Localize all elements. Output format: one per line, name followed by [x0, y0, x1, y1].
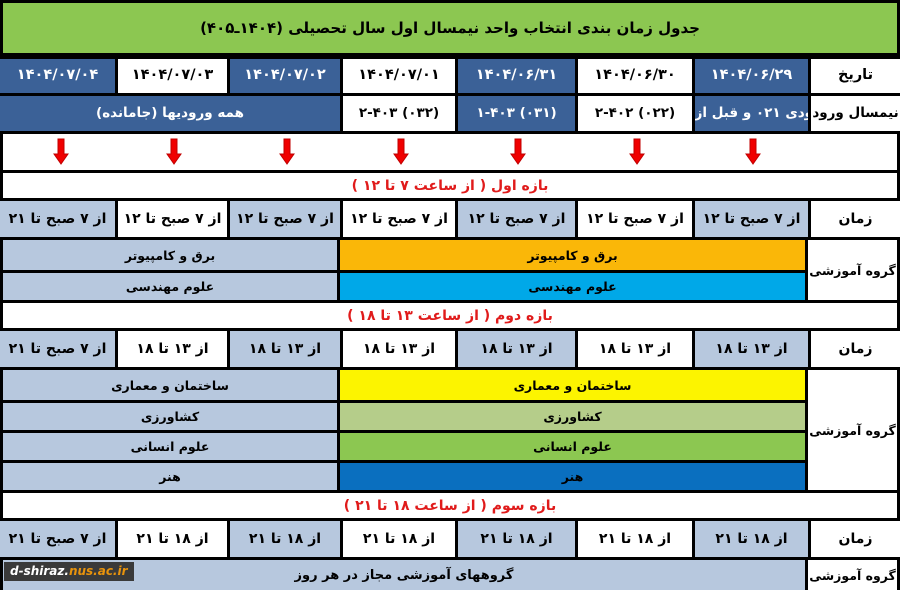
band-label-2: بازه دوم ( از ساعت ۱۳ تا ۱۸ ) [0, 303, 900, 331]
watermark-primary: d-shiraz. [10, 564, 69, 578]
arrow-cell-6 [3, 134, 118, 170]
group-row-2-3-plain: هنر [3, 463, 337, 490]
time-row-2-cell-0: از ۱۳ تا ۱۸ [692, 331, 808, 367]
date-cell-1: ۱۴۰۴/۰۶/۳۰ [575, 59, 692, 93]
date-row-header: تاریخ [808, 59, 900, 93]
time-row-3-cell-5: از ۱۸ تا ۲۱ [115, 521, 227, 557]
time-row-2-cell-5: از ۱۳ تا ۱۸ [115, 331, 227, 367]
time-row-1-cell-5: از ۷ صبح تا ۱۲ [115, 201, 227, 237]
site-watermark: d-shiraz.nus.ac.ir [4, 562, 134, 581]
down-arrow-icon [277, 138, 297, 166]
arrow-row-spacer [811, 134, 897, 170]
group-block-2-header: گروه آموزشی [805, 370, 897, 490]
time-row-2-cell-6: از ۷ صبح تا ۲۱ [0, 331, 115, 367]
date-cell-4: ۱۴۰۴/۰۷/۰۲ [227, 59, 340, 93]
entry-semester-cell-1: (۰۲۲) ۲-۴۰۲ [575, 96, 692, 131]
time-row-1: زمان از ۷ صبح تا ۱۲ از ۷ صبح تا ۱۲ از ۷ … [0, 201, 900, 240]
time-row-3-cell-4: از ۱۸ تا ۲۱ [227, 521, 340, 557]
entry-semester-cell-4: همه ورودیها (جامانده) [0, 96, 340, 131]
date-cell-3: ۱۴۰۴/۰۷/۰۱ [340, 59, 455, 93]
time-row-1-cell-3: از ۷ صبح تا ۱۲ [340, 201, 455, 237]
group-block-1: گروه آموزشی برق و کامپیوتر برق و کامپیوت… [0, 240, 900, 303]
time-row-2-cell-4: از ۱۳ تا ۱۸ [227, 331, 340, 367]
entry-semester-row: نیمسال ورود ورودی ۰۲۱ و قبل از آن (۰۲۲) … [0, 96, 900, 134]
band-label-3: بازه سوم ( از ساعت ۱۸ تا ۲۱ ) [0, 493, 900, 521]
page-title: جدول زمان بندی انتخاب واحد نیمسال اول سا… [0, 0, 900, 56]
time-row-1-header: زمان [808, 201, 900, 237]
group-row-1-1-colored: علوم مهندسی [337, 273, 805, 300]
arrow-cell-4 [230, 134, 343, 170]
time-row-1-cell-4: از ۷ صبح تا ۱۲ [227, 201, 340, 237]
time-row-2-cell-1: از ۱۳ تا ۱۸ [575, 331, 692, 367]
date-cell-5: ۱۴۰۴/۰۷/۰۳ [115, 59, 227, 93]
entry-semester-cell-3: (۰۳۲) ۲-۴۰۳ [340, 96, 455, 131]
time-row-3-cell-6: از ۷ صبح تا ۲۱ [0, 521, 115, 557]
time-row-1-cell-2: از ۷ صبح تا ۱۲ [455, 201, 575, 237]
group-row-1-0-plain: برق و کامپیوتر [3, 240, 337, 270]
group-row-2-3: هنر هنر [3, 460, 805, 490]
group-row-2-2-plain: علوم انسانی [3, 433, 337, 460]
group-row-2-0: ساختمان و معماری ساختمان و معماری [3, 370, 805, 400]
entry-semester-cell-2: (۰۳۱) ۱-۴۰۳ [455, 96, 575, 131]
time-row-3: زمان از ۱۸ تا ۲۱ از ۱۸ تا ۲۱ از ۱۸ تا ۲۱… [0, 521, 900, 560]
arrow-cell-0 [695, 134, 811, 170]
watermark-accent: nus.ac.ir [69, 564, 128, 578]
time-row-3-cell-1: از ۱۸ تا ۲۱ [575, 521, 692, 557]
time-row-2-cell-2: از ۱۳ تا ۱۸ [455, 331, 575, 367]
time-row-2-header: زمان [808, 331, 900, 367]
entry-semester-header: نیمسال ورود [808, 96, 900, 131]
down-arrow-icon [627, 138, 647, 166]
group-row-2-1-plain: کشاورزی [3, 403, 337, 430]
down-arrow-icon [51, 138, 71, 166]
band-label-1: بازه اول ( از ساعت ۷ تا ۱۲ ) [0, 173, 900, 201]
down-arrow-icon [391, 138, 411, 166]
group-block-2: گروه آموزشی ساختمان و معماری ساختمان و م… [0, 370, 900, 493]
date-cell-2: ۱۴۰۴/۰۶/۳۱ [455, 59, 575, 93]
date-cell-0: ۱۴۰۴/۰۶/۲۹ [692, 59, 808, 93]
group-row-2-3-colored: هنر [337, 463, 805, 490]
time-row-3-cell-0: از ۱۸ تا ۲۱ [692, 521, 808, 557]
arrow-cell-5 [118, 134, 230, 170]
arrow-cell-2 [458, 134, 578, 170]
group-row-2-0-plain: ساختمان و معماری [3, 370, 337, 400]
date-cell-6: ۱۴۰۴/۰۷/۰۴ [0, 59, 115, 93]
group-block-3-header: گروه آموزشی [805, 560, 897, 590]
group-block-1-header: گروه آموزشی [805, 240, 897, 300]
time-row-3-cell-2: از ۱۸ تا ۲۱ [455, 521, 575, 557]
date-row: تاریخ ۱۴۰۴/۰۶/۲۹ ۱۴۰۴/۰۶/۳۰ ۱۴۰۴/۰۶/۳۱ ۱… [0, 56, 900, 96]
group-row-1-0: برق و کامپیوتر برق و کامپیوتر [3, 240, 805, 270]
time-row-1-cell-0: از ۷ صبح تا ۱۲ [692, 201, 808, 237]
group-row-2-2-colored: علوم انسانی [337, 433, 805, 460]
time-row-1-cell-1: از ۷ صبح تا ۱۲ [575, 201, 692, 237]
entry-semester-cell-0: ورودی ۰۲۱ و قبل از آن [692, 96, 808, 131]
group-row-1-1-plain: علوم مهندسی [3, 273, 337, 300]
time-row-3-header: زمان [808, 521, 900, 557]
group-row-2-2: علوم انسانی علوم انسانی [3, 430, 805, 460]
schedule-table-page: جدول زمان بندی انتخاب واحد نیمسال اول سا… [0, 0, 900, 590]
group-row-1-0-colored: برق و کامپیوتر [337, 240, 805, 270]
arrow-cell-3 [343, 134, 458, 170]
time-row-1-cell-6: از ۷ صبح تا ۲۱ [0, 201, 115, 237]
arrow-row [0, 134, 900, 173]
down-arrow-icon [508, 138, 528, 166]
time-row-2: زمان از ۱۳ تا ۱۸ از ۱۳ تا ۱۸ از ۱۳ تا ۱۸… [0, 331, 900, 370]
time-row-3-cell-3: از ۱۸ تا ۲۱ [340, 521, 455, 557]
group-row-2-0-colored: ساختمان و معماری [337, 370, 805, 400]
down-arrow-icon [164, 138, 184, 166]
group-row-1-1: علوم مهندسی علوم مهندسی [3, 270, 805, 300]
group-row-2-1-colored: کشاورزی [337, 403, 805, 430]
group-block-3: گروه آموزشی گروههای آموزشی مجاز در هر رو… [0, 560, 900, 590]
down-arrow-icon [743, 138, 763, 166]
arrow-cell-1 [578, 134, 695, 170]
group-row-2-1: کشاورزی کشاورزی [3, 400, 805, 430]
time-row-2-cell-3: از ۱۳ تا ۱۸ [340, 331, 455, 367]
